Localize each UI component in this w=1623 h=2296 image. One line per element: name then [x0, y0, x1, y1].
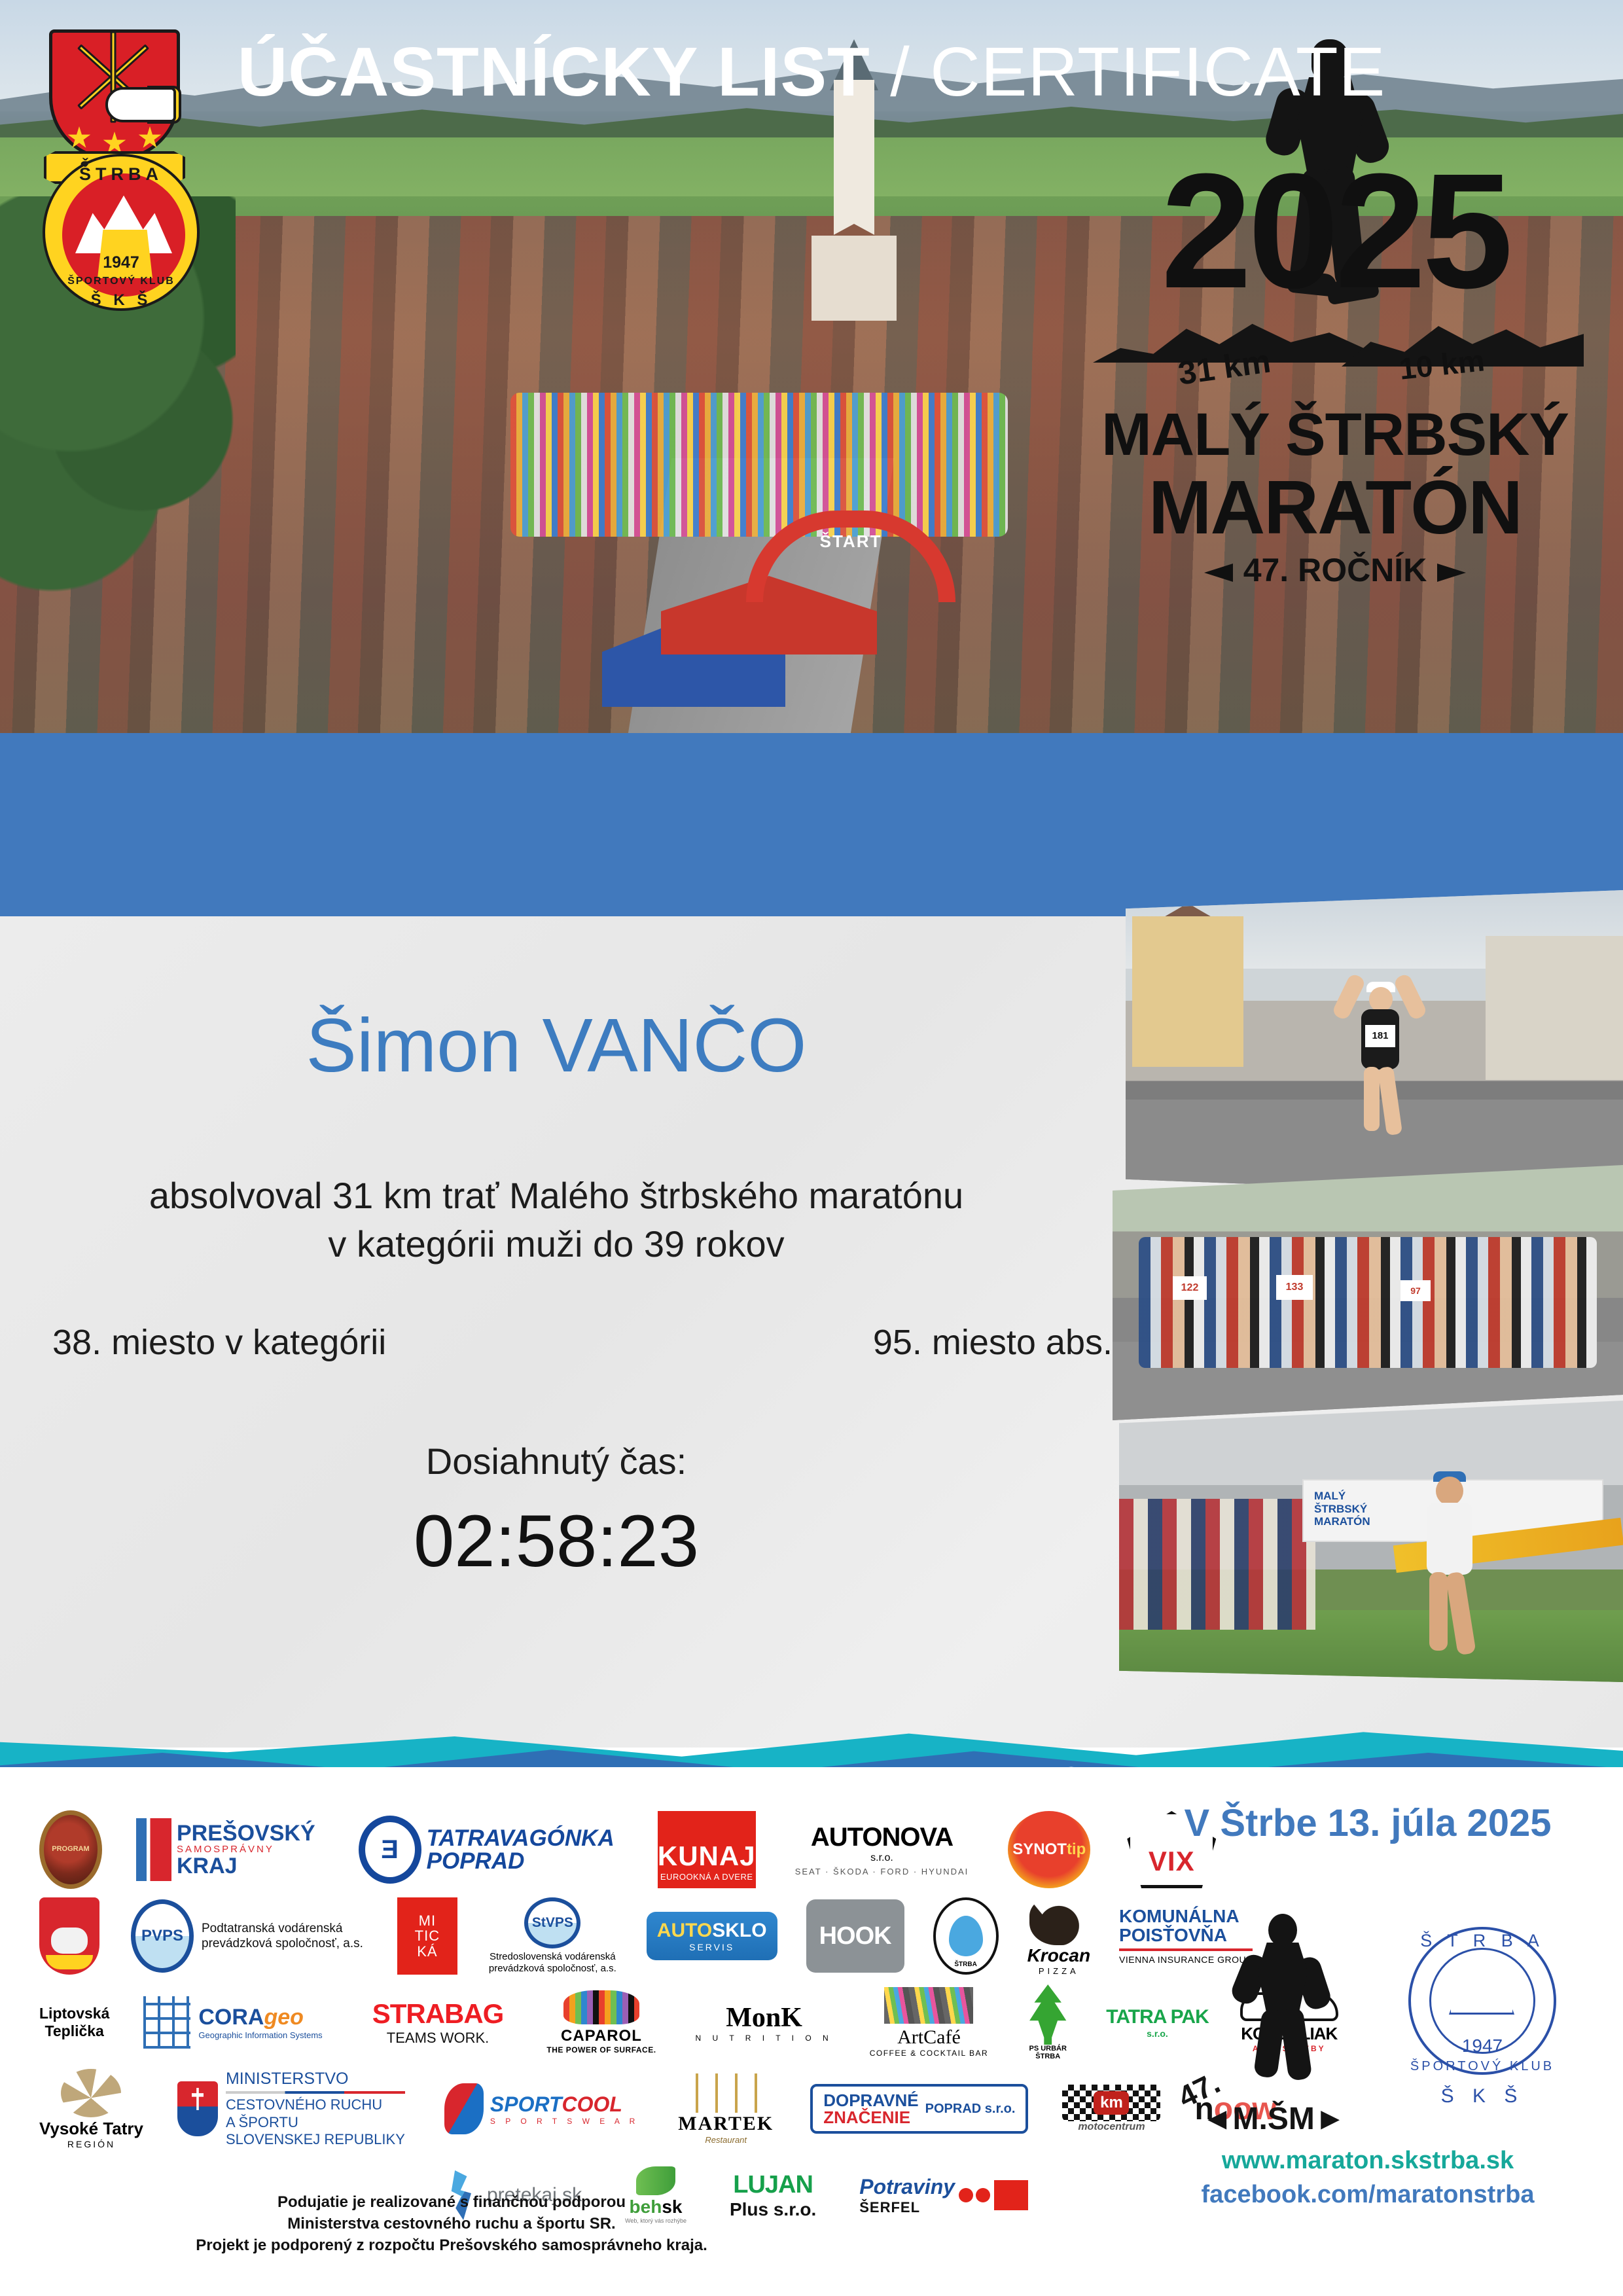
- photo3-runner: [1400, 1460, 1499, 1676]
- sponsor-label: TATRAVAGÓNKA: [427, 1827, 615, 1850]
- sponsor-synottip[interactable]: SYNOTtip: [1008, 1811, 1090, 1888]
- miticka-box: MI TIC KÁ: [397, 1897, 457, 1975]
- liptovska-teplicka-text: Liptovská Teplička: [39, 2005, 109, 2040]
- stamp-year: 1947: [1394, 2036, 1571, 2056]
- disclaimer-line-2: Ministerstva cestovného ruchu a športu S…: [65, 2213, 838, 2234]
- club-badge-subtitle: ŠPORTOVÝ KLUB: [45, 276, 197, 287]
- synottip-oval-icon: SYNOTtip: [1008, 1811, 1090, 1888]
- msm-emblem: 47. ◄M.ŠM►: [1178, 1914, 1361, 2130]
- sponsor-sublabel: Geographic Information Systems: [198, 2030, 322, 2040]
- date-and-place: V Štrbe 13. júla 2025: [1158, 1801, 1577, 1845]
- sponsor-row: PROGRAM PREŠOVSKÝ SAMOSPRÁVNY KRAJ Ǝ TAT…: [39, 1806, 1139, 1893]
- serfel-dots-icon: [959, 2188, 990, 2202]
- sponsor-sublabel: motocentrum: [1062, 2121, 1160, 2133]
- sponsor-liptovska-teplicka-label[interactable]: Liptovská Teplička: [39, 1984, 109, 2061]
- photo1-runner: 181: [1342, 969, 1420, 1158]
- sponsor-pd-strba[interactable]: ŠTRBA: [933, 1897, 999, 1975]
- sponsor-strabag[interactable]: STRABAG TEAMS WORK.: [372, 1984, 504, 2061]
- sponsor-label: MINISTERSTVO: [226, 2069, 405, 2089]
- sponsor-label2: CESTOVNÉHO RUCHU: [226, 2096, 405, 2113]
- sponsor-label2: SKLO: [712, 1920, 766, 1941]
- tatravagonka-mark-icon: Ǝ: [359, 1816, 421, 1884]
- sponsor-label2: Teplička: [39, 2022, 109, 2040]
- autonova-text: AUTONOVA s.r.o. SEAT · ŠKODA · FORD · HY…: [795, 1823, 969, 1876]
- sponsor-label: DOPRAVNÉ: [823, 2092, 918, 2109]
- footer: PROGRAM PREŠOVSKÝ SAMOSPRÁVNY KRAJ Ǝ TAT…: [0, 1767, 1623, 2296]
- tatravagonka-text: TATRAVAGÓNKA POPRAD: [427, 1827, 615, 1873]
- serfel-block-icon: [994, 2180, 1028, 2210]
- sponsor-sportcool[interactable]: SPORTCOOL S P O R T S W E A R: [444, 2070, 639, 2147]
- sponsor-tatravagonka[interactable]: Ǝ TATRAVAGÓNKA POPRAD: [359, 1811, 615, 1888]
- torso: [1258, 1943, 1308, 2015]
- sponsor-program-trencin[interactable]: PROGRAM: [39, 1811, 102, 1888]
- stamp-bottom-label: ŠPORTOVÝ KLUB: [1394, 2059, 1571, 2074]
- sponsor-sublabel: COFFEE & COCKTAIL BAR: [870, 2049, 989, 2058]
- head: [1369, 987, 1393, 1012]
- monk-text: MonK N U T R I T I O N: [696, 2002, 833, 2043]
- description-line-2: v kategórii muži do 39 rokov: [0, 1220, 1113, 1268]
- krocan-logo: Krocan PIZZA: [1027, 1897, 1090, 1976]
- sponsor-label: HOOK: [819, 1922, 891, 1950]
- sponsor-label: PREŠOVSKÝ: [177, 1822, 315, 1845]
- leg-right: [1279, 2007, 1313, 2081]
- sponsor-ps-urbar-strba[interactable]: PS URBÁR ŠTRBA: [1024, 1984, 1072, 2061]
- sponsor-label: STRABAG: [372, 1998, 504, 2030]
- leg-left: [1364, 1067, 1380, 1131]
- ps-urbar-logo: PS URBÁR ŠTRBA: [1024, 1984, 1072, 2060]
- photo3-banner-text: MALÝ ŠTRBSKÝ MARATÓN: [1314, 1490, 1370, 1528]
- sponsor-sublabel: N U T R I T I O N: [696, 2034, 833, 2043]
- website-url[interactable]: www.maraton.skstrba.sk: [1158, 2147, 1577, 2175]
- photo3-banner-line1: MALÝ: [1314, 1490, 1370, 1503]
- sponsor-row: PVPS Podtatranská vodárenská prevádzková…: [39, 1893, 1139, 1979]
- sponsor-artcafe[interactable]: ArtCafé COFFEE & COCKTAIL BAR: [870, 1984, 989, 2061]
- photo3-banner-line2: ŠTRBSKÝ: [1314, 1503, 1370, 1516]
- pvps-oval-icon: PVPS: [131, 1899, 194, 1973]
- sponsor-label: MARTEK: [678, 2113, 774, 2135]
- sponsor-sublabel: PS URBÁR: [1024, 2045, 1072, 2053]
- leg-right: [1378, 1066, 1402, 1136]
- presov-text: PREŠOVSKÝ SAMOSPRÁVNY KRAJ: [177, 1822, 315, 1878]
- head: [1436, 1477, 1463, 1505]
- sponsor-sublabel: TEAMS WORK.: [372, 2030, 504, 2047]
- sponsor-sublabel2: ŠTRBA: [1024, 2053, 1072, 2060]
- sks-club-badge: ŠTRBA 1947 ŠPORTOVÝ KLUB Š K Š: [43, 154, 200, 311]
- sponsor-sublabel: S P O R T S W E A R: [490, 2117, 639, 2126]
- church-nave: [811, 236, 897, 321]
- sponsor-logo-grid: PROGRAM PREŠOVSKÝ SAMOSPRÁVNY KRAJ Ǝ TAT…: [39, 1806, 1139, 2238]
- strabag-text: STRABAG TEAMS WORK.: [372, 1998, 504, 2047]
- sponsor-label: Krocan: [1027, 1945, 1090, 1966]
- sponsor-label: Potraviny: [859, 2175, 955, 2199]
- artcafe-bars-icon: [884, 1987, 973, 2024]
- sportcool-text: SPORTCOOL S P O R T S W E A R: [490, 2092, 639, 2126]
- artcafe-logo: ArtCafé COFFEE & COCKTAIL BAR: [870, 1987, 989, 2058]
- sportcool-swoosh-icon: [444, 2083, 484, 2134]
- mountain-ridge-icon: [1093, 301, 1577, 380]
- autosklo-box: AUTOSKLO SERVIS: [647, 1912, 777, 1960]
- photo-runner-group: 122 133 97: [1113, 1165, 1623, 1420]
- title-slovak: ÚČASTNÍCKY LIST: [238, 33, 870, 111]
- water-drop-icon: [949, 1916, 983, 1956]
- absolute-place: 95. miesto abs.: [873, 1322, 1113, 1363]
- sponsor-kunaj[interactable]: KUNAJ EUROOKNÁ A DVERE: [658, 1811, 756, 1888]
- sponsor-label: CORA: [198, 2005, 264, 2030]
- photo2-runner-pack: [1139, 1237, 1597, 1368]
- dopravne-text: DOPRAVNÉ ZNAČENIE: [823, 2092, 918, 2126]
- hook-box: HOOK: [806, 1899, 904, 1973]
- grid-icon: [143, 1996, 190, 2049]
- time-label: Dosiahnutý čas:: [0, 1440, 1113, 1482]
- sponsor-label: PVPS: [141, 1927, 183, 1945]
- runner-pack: [510, 393, 1008, 537]
- edelweiss-icon: [61, 2069, 121, 2117]
- checkered-flag-icon: [1062, 2085, 1160, 2121]
- torso: [1427, 1503, 1472, 1575]
- sponsor-hook[interactable]: HOOK: [806, 1897, 904, 1975]
- kunaj-box: KUNAJ EUROOKNÁ A DVERE: [658, 1811, 756, 1888]
- sponsor-km-motocentrum[interactable]: motocentrum: [1062, 2070, 1160, 2147]
- sponsor-label: Liptovská: [39, 2005, 109, 2022]
- sponsor-autosklo[interactable]: AUTOSKLO SERVIS: [647, 1897, 777, 1975]
- disclaimer-line-3: Projekt je podporený z rozpočtu Prešovsk…: [65, 2234, 838, 2256]
- sponsor-label: ArtCafé: [870, 2026, 989, 2049]
- sponsor-row: Vysoké Tatry REGIÓN MINISTERSTVO CESTOVN…: [39, 2066, 1139, 2152]
- sponsor-vysoke-tatry[interactable]: Vysoké Tatry REGIÓN: [39, 2070, 143, 2147]
- sponsor-liptovska-teplicka-crest[interactable]: [39, 1897, 99, 1975]
- sponsor-dopravne-znacenie[interactable]: DOPRAVNÉ ZNAČENIE POPRAD s.r.o.: [810, 2070, 1028, 2147]
- divider: [226, 2091, 405, 2094]
- sponsor-stvps[interactable]: StVPS Stredoslovenská vodárenská prevádz…: [489, 1897, 616, 1975]
- event-edition: 47. ROČNÍK: [1086, 551, 1584, 589]
- footer-emblems: 47. ◄M.ŠM► Š T R B A 1947 ŠPORTOVÝ KLUB …: [1158, 1898, 1577, 2134]
- sponsor-sublabel: EUROOKNÁ A DVERE: [660, 1872, 753, 1882]
- photo-finish-woman: 181: [1126, 890, 1623, 1198]
- lamb-icon: [51, 1928, 88, 1954]
- vysoke-tatry-logo: Vysoké Tatry REGIÓN: [39, 2069, 143, 2149]
- description-line-1: absolvoval 31 km trať Malého štrbského m…: [0, 1172, 1113, 1220]
- photo1-house-right: [1486, 936, 1623, 1080]
- ministerstvo-text: MINISTERSTVO CESTOVNÉHO RUCHU A ŠPORTU S…: [226, 2069, 405, 2148]
- photo3-banner-line3: MARATÓN: [1314, 1515, 1370, 1528]
- leg-right: [1445, 1571, 1476, 1656]
- sponsor-label: SPORT: [490, 2092, 562, 2116]
- page-title: ÚČASTNÍCKY LIST / CERTIFICATE: [0, 33, 1623, 112]
- sponsor-sublabel: Restaurant: [678, 2135, 774, 2145]
- sponsor-label: StVPS: [532, 1915, 573, 1931]
- sponsor-presovsky-kraj[interactable]: PREŠOVSKÝ SAMOSPRÁVNY KRAJ: [136, 1811, 315, 1888]
- sponsor-label: AUTONOVA: [795, 1823, 969, 1852]
- stamp-top-label: Š T R B A: [1394, 1931, 1571, 1951]
- title-separator: /: [870, 33, 930, 111]
- dopravne-box: DOPRAVNÉ ZNAČENIE POPRAD s.r.o.: [810, 2084, 1028, 2134]
- head: [1268, 1914, 1297, 1946]
- martek-logo: MARTEK Restaurant: [678, 2073, 774, 2145]
- slovak-coat-of-arms-icon: [177, 2081, 218, 2136]
- sponsor-corageo[interactable]: CORAgeo Geographic Information Systems: [143, 1984, 322, 2061]
- sponsor-ministerstvo[interactable]: MINISTERSTVO CESTOVNÉHO RUCHU A ŠPORTU S…: [177, 2070, 405, 2147]
- sponsor-label2: KRAJ: [177, 1855, 315, 1878]
- sponsor-sublabel: ŠTRBA: [936, 1961, 996, 1968]
- event-logo: 2025 31 km 10 km MALÝ ŠTRBSKÝ MARATÓN 47…: [1086, 39, 1584, 596]
- potraviny-text: Potraviny ŠERFEL: [859, 2175, 955, 2216]
- event-title-line2: MARATÓN: [1086, 463, 1584, 551]
- event-year: 2025: [1086, 157, 1584, 304]
- cutlery-icon: [687, 2073, 765, 2113]
- elephant-icon: [563, 1990, 639, 2024]
- sponsor-sublabel: s.r.o.: [795, 1852, 969, 1864]
- arrow-left-icon: [1185, 564, 1233, 582]
- mark-glyph: Ǝ: [381, 1835, 399, 1865]
- sponsor-label: Vysoké Tatry: [39, 2119, 143, 2139]
- sponsor-miticka[interactable]: MI TIC KÁ: [397, 1897, 457, 1975]
- event-edition-label: 47. ROČNÍK: [1243, 552, 1427, 588]
- corageo-text: CORAgeo Geographic Information Systems: [198, 2005, 322, 2040]
- sponsor-label: MonK: [696, 2002, 833, 2034]
- finish-time: 02:58:23: [0, 1499, 1113, 1583]
- msm-abbrev: ◄M.ŠM►: [1202, 2101, 1346, 2137]
- arrow-right-icon: [1437, 564, 1486, 582]
- sponsor-label2: ZNAČENIE: [823, 2109, 918, 2126]
- stamp-abbrev: Š K Š: [1394, 2085, 1571, 2108]
- arm-left: [1331, 973, 1366, 1021]
- sponsor-label: AUTO: [657, 1920, 712, 1941]
- tree-icon: [1024, 1984, 1072, 2045]
- kmmoto-logo: motocentrum: [1062, 2085, 1160, 2133]
- sponsor-label4: SLOVENSKEJ REPUBLIKY: [226, 2131, 405, 2148]
- club-badge-abbrev: Š K Š: [45, 291, 197, 310]
- sponsor-martek[interactable]: MARTEK Restaurant: [678, 2070, 774, 2147]
- pd-strba-oval-icon: ŠTRBA: [933, 1897, 999, 1975]
- sponsor-sublabel2: prevádzková spoločnosť, a.s.: [202, 1936, 363, 1951]
- sponsor-label: SYNOTtip: [1012, 1840, 1086, 1859]
- disclaimer-line-1: Podujatie je realizované s finančnou pod…: [65, 2191, 838, 2213]
- sponsor-autonova[interactable]: AUTONOVA s.r.o. SEAT · ŠKODA · FORD · HY…: [795, 1811, 969, 1888]
- funding-disclaimer: Podujatie je realizované s finančnou pod…: [65, 2191, 838, 2256]
- turkey-icon: [1029, 1897, 1088, 1945]
- facebook-url[interactable]: facebook.com/maratonstrba: [1158, 2181, 1577, 2209]
- sponsor-label2: geo: [264, 2005, 303, 2030]
- event-title-line1: MALÝ ŠTRBSKÝ: [1086, 401, 1584, 469]
- title-english: CERTIFICATE: [930, 33, 1385, 111]
- sponsor-label: VIX: [1149, 1846, 1195, 1877]
- liptovska-teplicka-crest-icon: [39, 1897, 99, 1975]
- start-arch-label: ŠTART: [795, 531, 906, 552]
- sponsor-monk[interactable]: MonK N U T R I T I O N: [696, 1984, 833, 2061]
- sponsor-sublabel: POPRAD s.r.o.: [925, 2102, 1016, 2117]
- car-brand-list: SEAT · ŠKODA · FORD · HYUNDAI: [795, 1867, 969, 1876]
- race-bib: 133: [1276, 1275, 1313, 1300]
- presov-flag-icon: [136, 1818, 171, 1881]
- club-badge-top-label: ŠTRBA: [45, 164, 197, 185]
- runner-silhouette-icon: [1234, 1914, 1332, 2077]
- race-bib: 181: [1365, 1025, 1395, 1047]
- achievement-description: absolvoval 31 km trať Malého štrbského m…: [0, 1172, 1113, 1268]
- sponsor-label3: A ŠPORTU: [226, 2114, 405, 2131]
- sponsor-label2: COOL: [562, 2092, 622, 2116]
- stvps-oval-icon: StVPS: [524, 1897, 580, 1948]
- photo-collage: 181 122 133 97 MALÝ ŠTRBSKÝ MARATÓN: [1113, 890, 1623, 1741]
- sponsor-sublabel: THE POWER OF SURFACE.: [546, 2045, 656, 2054]
- sponsor-label: KUNAJ: [658, 1840, 756, 1872]
- sponsor-sublabel: SERVIS: [657, 1942, 767, 1952]
- race-bib: 122: [1173, 1276, 1207, 1300]
- program-seal-icon: PROGRAM: [39, 1810, 102, 1889]
- photo-finish-man: MALÝ ŠTRBSKÝ MARATÓN: [1119, 1401, 1623, 1682]
- sponsor-label2: POPRAD: [427, 1850, 615, 1873]
- participant-name: Šimon VANČO: [0, 1001, 1113, 1089]
- placement-row: 38. miesto v kategórii 95. miesto abs.: [52, 1322, 1113, 1363]
- sponsor-potraviny-serfel[interactable]: Potraviny ŠERFEL: [859, 2157, 1028, 2234]
- sponsor-row: Liptovská Teplička CORAgeo Geographic In…: [39, 1979, 1139, 2066]
- pvps-text: Podtatranská vodárenská prevádzková spol…: [202, 1921, 363, 1951]
- sponsor-label3: KÁ: [417, 1944, 437, 1959]
- photo3-spectators: [1119, 1499, 1315, 1630]
- sponsor-pvps[interactable]: PVPS Podtatranská vodárenská prevádzková…: [131, 1897, 363, 1975]
- caparol-logo: CAPAROL THE POWER OF SURFACE.: [546, 1990, 656, 2054]
- race-bib: 97: [1400, 1280, 1431, 1301]
- sponsor-sublabel: REGIÓN: [39, 2139, 143, 2149]
- sponsor-sublabel: Stredoslovenská vodárenská: [489, 1951, 616, 1963]
- stvps-text: Stredoslovenská vodárenská prevádzková s…: [489, 1951, 616, 1975]
- sponsor-sublabel: ŠERFEL: [859, 2199, 955, 2216]
- sponsor-label: CAPAROL: [546, 2027, 656, 2045]
- sponsor-sublabel: Podtatranská vodárenská: [202, 1921, 363, 1936]
- sponsor-krocan-pizza[interactable]: Krocan PIZZA: [1027, 1897, 1090, 1975]
- sponsor-sublabel: PIZZA: [1027, 1966, 1090, 1976]
- sponsor-label: MI: [419, 1913, 436, 1928]
- sks-stamp-emblem: Š T R B A 1947 ŠPORTOVÝ KLUB Š K Š: [1394, 1905, 1571, 2121]
- leg-left: [1429, 1572, 1448, 1651]
- club-badge-year: 1947: [45, 253, 197, 272]
- sponsor-label: PROGRAM: [52, 1846, 89, 1854]
- sponsor-label2: TIC: [415, 1928, 440, 1943]
- category-place: 38. miesto v kategórii: [52, 1322, 386, 1363]
- sponsor-sublabel2: prevádzková spoločnosť, a.s.: [489, 1963, 616, 1975]
- crest-base: [46, 1955, 93, 1969]
- photo1-house: [1132, 916, 1243, 1067]
- sponsor-caparol[interactable]: CAPAROL THE POWER OF SURFACE.: [546, 1984, 656, 2061]
